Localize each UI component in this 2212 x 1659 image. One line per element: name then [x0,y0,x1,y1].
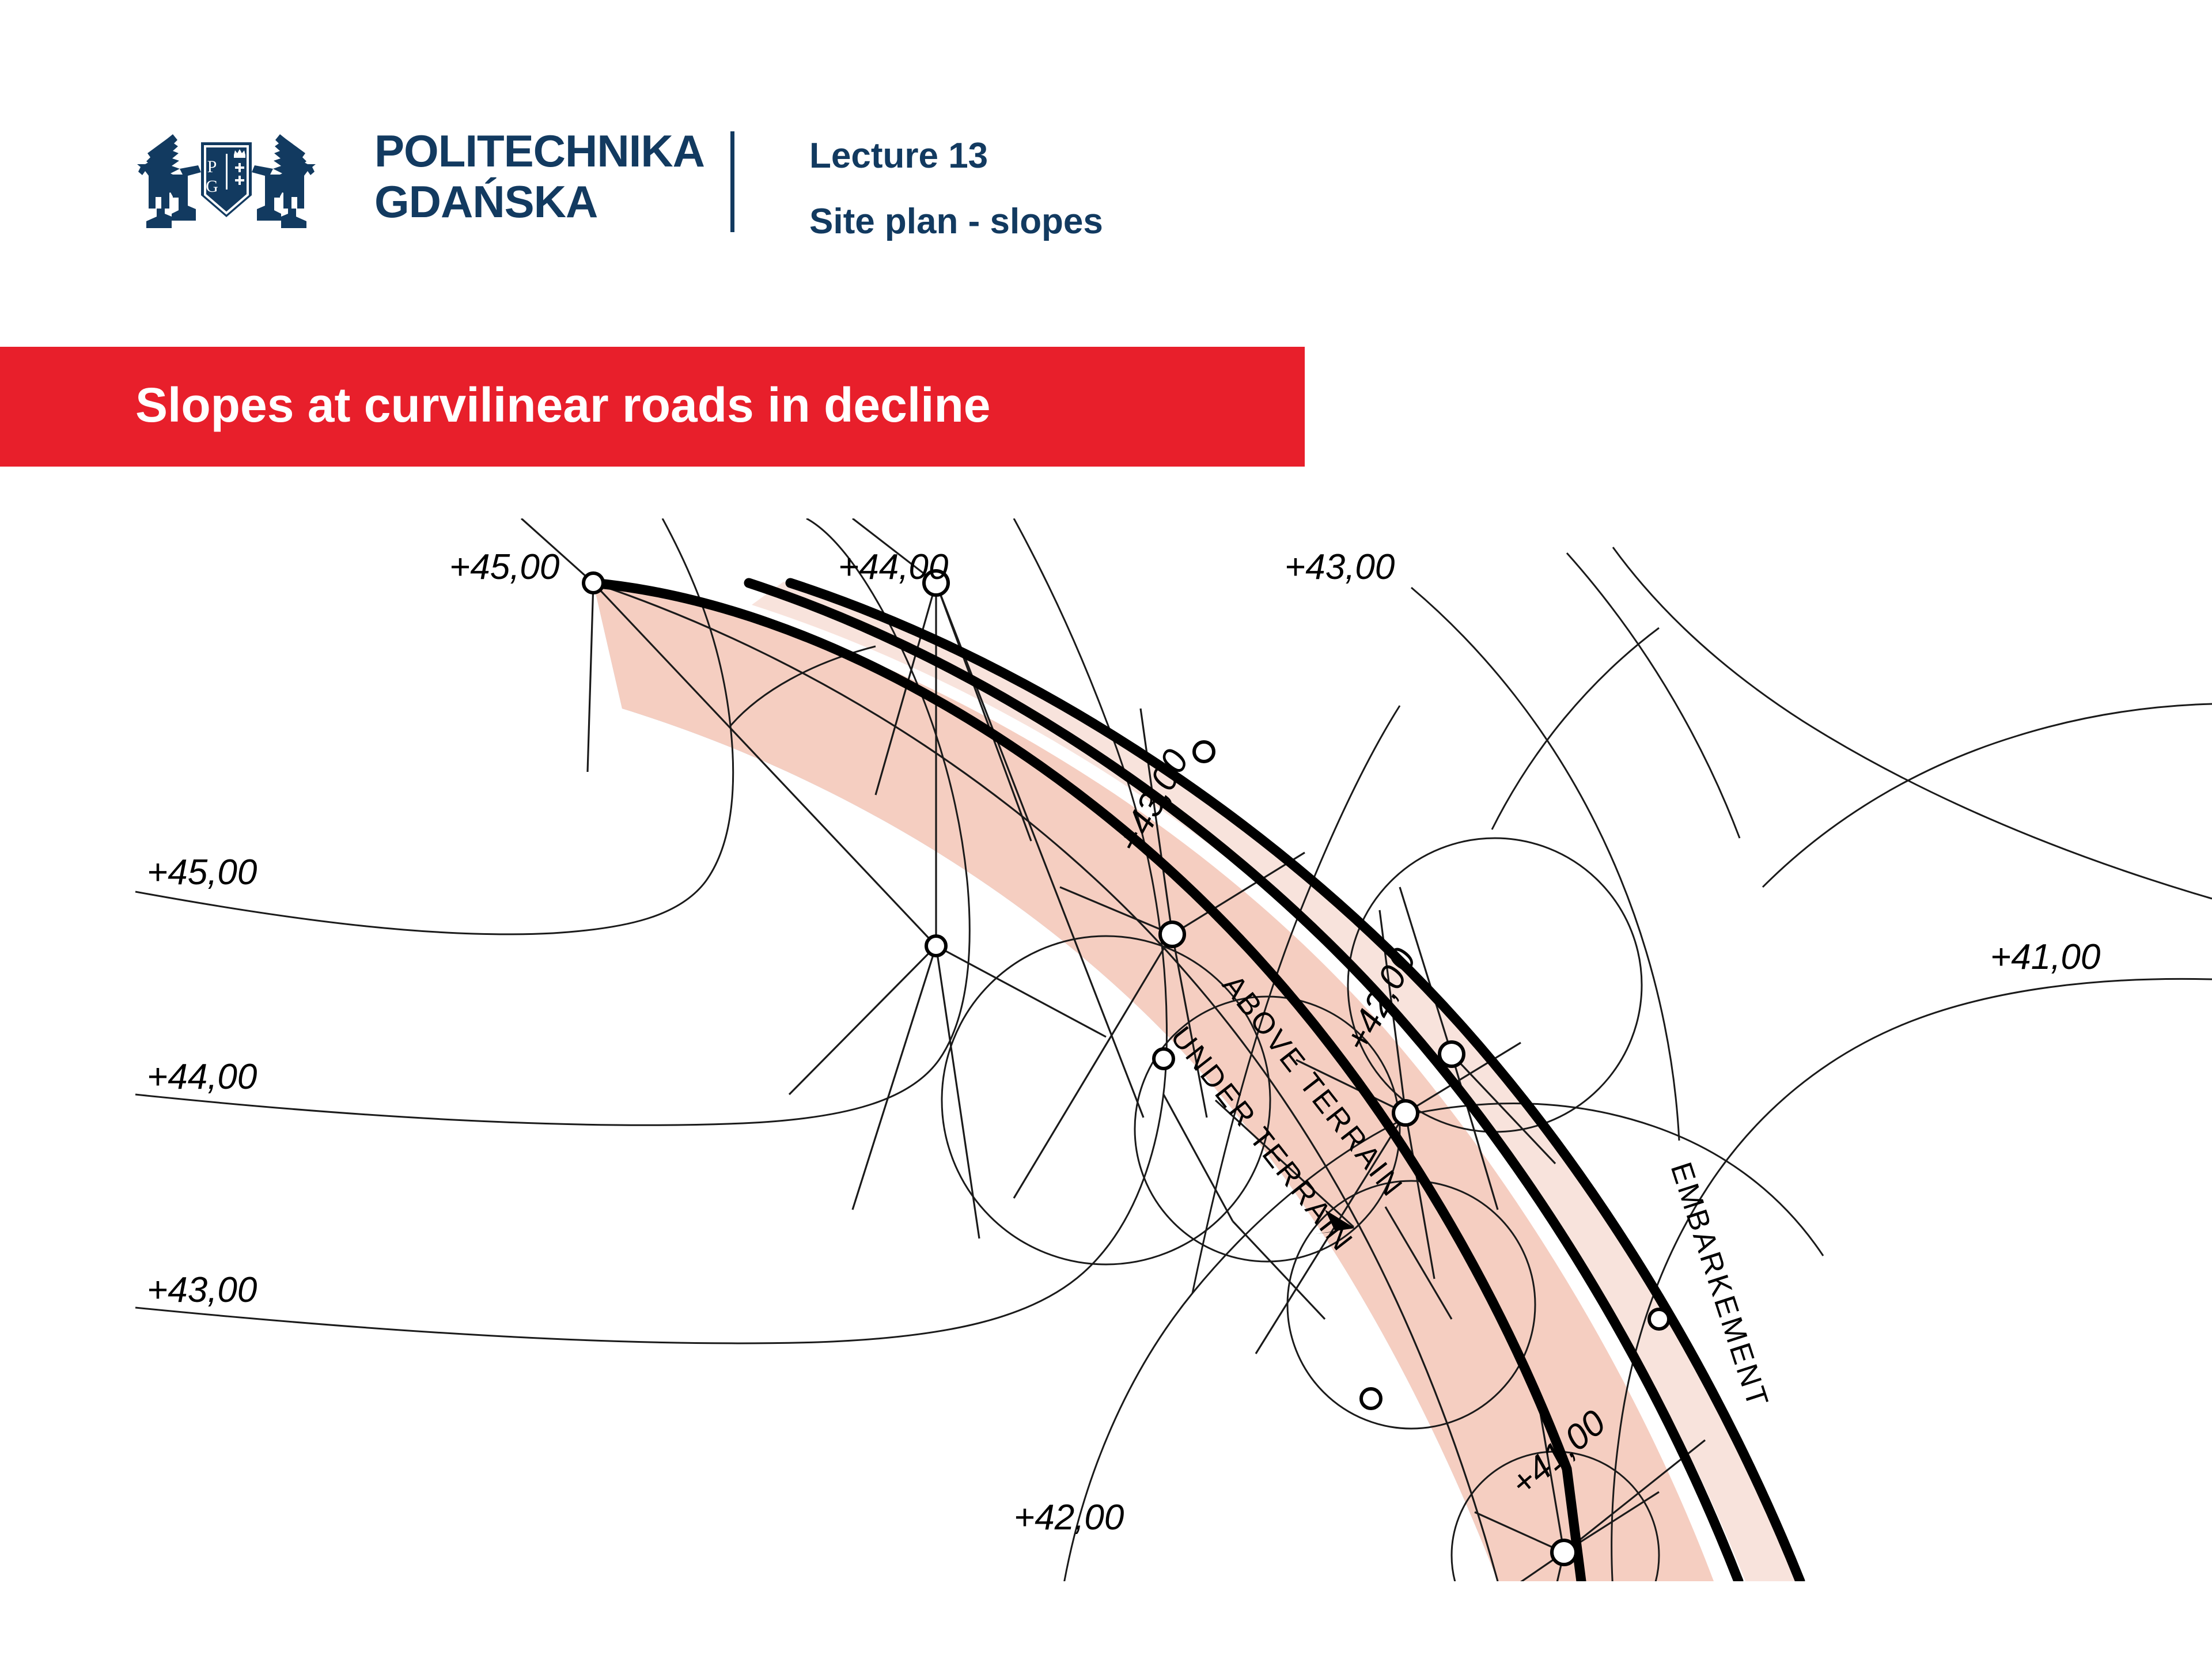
node-marker [1160,922,1184,946]
university-name: POLITECHNIKA GDAŃSKA [374,126,704,227]
above-terrain-band [593,583,1714,1581]
node-marker [1361,1389,1381,1408]
lecture-subject: Site plan - slopes [809,204,1103,240]
university-name-line1: POLITECHNIKA [374,126,704,176]
slide-title: Slopes at curvilinear roads in decline [135,377,991,433]
page-header: P G POLITECHNIKA GDAŃSKA Lecture 13 Site… [0,0,2212,288]
header-divider [730,131,734,232]
svg-text:G: G [206,177,218,196]
contour-label-43: +43,00 [147,1270,257,1310]
node-marker [1154,1049,1173,1069]
node-marker [926,936,946,956]
road-elevation-label: +44,00 [838,547,948,587]
node-marker [1393,1101,1418,1125]
lecture-header: Lecture 13 Site plan - slopes [809,138,1103,240]
node-marker [1649,1309,1669,1329]
site-plan-svg: +45,00 +44,00 +43,00 +43,00 +42,00 +41,0… [0,518,2212,1590]
logo-crest-icon: P G [131,118,321,242]
node-marker [1440,1042,1464,1066]
site-plan-drawing: +45,00 +44,00 +43,00 +43,00 +42,00 +41,0… [0,518,2212,1590]
politechnika-gdanska-logo: P G [131,118,321,242]
road-elevation-label: +45,00 [449,547,559,587]
contour-label-45: +45,00 [147,853,257,892]
node-marker [1194,742,1214,762]
university-name-line2: GDAŃSKA [374,176,704,227]
contour-label-44: +44,00 [147,1057,257,1097]
contour-label-42: +42,00 [1014,1498,1124,1537]
node-marker [584,573,603,593]
lecture-number: Lecture 13 [809,138,1103,174]
node-marker [1552,1540,1576,1565]
road-elevation-label: +43,00 [1285,547,1395,587]
contour-label-41: +41,00 [1990,937,2100,977]
svg-text:P: P [207,157,217,176]
